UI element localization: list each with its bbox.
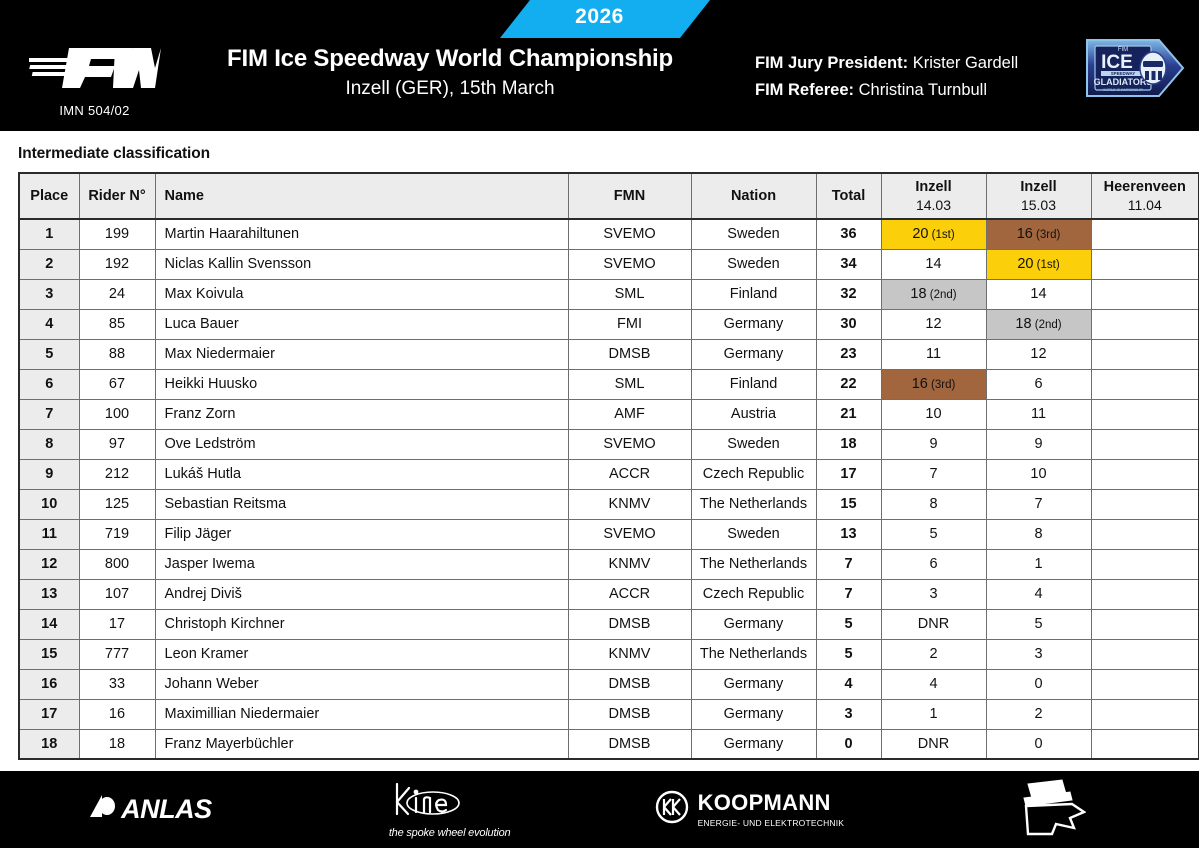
cell-rider-number: 24 xyxy=(79,279,155,309)
cell-rider-name: Max Koivula xyxy=(155,279,568,309)
cell-event-3 xyxy=(1091,669,1199,699)
table-row[interactable]: 324Max KoivulaSMLFinland3218 (2nd)14 xyxy=(19,279,1199,309)
page-header: 2026 IMN 504/02 FIM Ice Speedway World xyxy=(0,0,1199,131)
cell-event-3 xyxy=(1091,399,1199,429)
cell-event-1: 14 xyxy=(881,249,986,279)
cell-event-1: DNR xyxy=(881,609,986,639)
cell-total: 3 xyxy=(816,699,881,729)
koopmann-wordmark: KOOPMANN xyxy=(698,790,831,815)
fim-logo-block: IMN 504/02 xyxy=(22,42,167,118)
cell-total: 7 xyxy=(816,549,881,579)
sponsor-anlas: ANLAS xyxy=(0,793,300,826)
cell-event-1: 8 xyxy=(881,489,986,519)
svg-text:WORLD CHAMPIONSHIP: WORLD CHAMPIONSHIP xyxy=(1103,88,1143,92)
cell-event-2: 9 xyxy=(986,429,1091,459)
svg-text:ICE: ICE xyxy=(1101,52,1133,73)
event-venue-date: Inzell (GER), 15th March xyxy=(185,78,715,100)
cell-fmn: ACCR xyxy=(568,579,691,609)
cell-place: 2 xyxy=(19,249,79,279)
cell-rider-name: Lukáš Hutla xyxy=(155,459,568,489)
table-row[interactable]: 1417Christoph KirchnerDMSBGermany5DNR5 xyxy=(19,609,1199,639)
col-header-nation[interactable]: Nation xyxy=(691,173,816,219)
table-body: 1199Martin HaarahiltunenSVEMOSweden3620 … xyxy=(19,219,1199,759)
cell-rider-number: 212 xyxy=(79,459,155,489)
col-header-event-2[interactable]: Inzell 15.03 xyxy=(986,173,1091,219)
cell-nation: Czech Republic xyxy=(691,459,816,489)
cell-rider-number: 192 xyxy=(79,249,155,279)
cell-event-1: 1 xyxy=(881,699,986,729)
cell-place: 7 xyxy=(19,399,79,429)
cell-fmn: DMSB xyxy=(568,729,691,759)
cell-rider-name: Franz Mayerbüchler xyxy=(155,729,568,759)
cell-rider-number: 199 xyxy=(79,219,155,249)
cell-event-1: 7 xyxy=(881,459,986,489)
cell-total: 21 xyxy=(816,399,881,429)
cell-rider-name: Filip Jäger xyxy=(155,519,568,549)
cell-total: 36 xyxy=(816,219,881,249)
imn-code: IMN 504/02 xyxy=(22,103,167,118)
cell-event-1: 12 xyxy=(881,309,986,339)
col-header-rider[interactable]: Rider N° xyxy=(79,173,155,219)
cell-rider-number: 85 xyxy=(79,309,155,339)
cell-event-2: 0 xyxy=(986,669,1091,699)
jury-president-name: Krister Gardell xyxy=(913,54,1018,72)
cell-event-1: 4 xyxy=(881,669,986,699)
cell-rider-name: Sebastian Reitsma xyxy=(155,489,568,519)
cell-rider-number: 719 xyxy=(79,519,155,549)
cell-event-1: 6 xyxy=(881,549,986,579)
cell-place: 13 xyxy=(19,579,79,609)
fim-logo-icon xyxy=(22,42,167,95)
cell-place: 10 xyxy=(19,489,79,519)
results-table: Place Rider N° Name FMN Nation Total Inz… xyxy=(18,172,1199,760)
table-row[interactable]: 485Luca BauerFMIGermany301218 (2nd) xyxy=(19,309,1199,339)
cell-event-3 xyxy=(1091,729,1199,759)
cell-total: 7 xyxy=(816,579,881,609)
table-row[interactable]: 13107Andrej DivišACCRCzech Republic734 xyxy=(19,579,1199,609)
cell-nation: Germany xyxy=(691,669,816,699)
cell-fmn: SVEMO xyxy=(568,429,691,459)
cell-fmn: SML xyxy=(568,369,691,399)
referee-row: FIM Referee: Christina Turnbull xyxy=(755,77,1018,104)
cell-nation: Sweden xyxy=(691,219,816,249)
referee-name: Christina Turnbull xyxy=(859,81,987,99)
officials-block: FIM Jury President: Krister Gardell FIM … xyxy=(755,50,1018,104)
results-page: 2026 IMN 504/02 FIM Ice Speedway World xyxy=(0,0,1199,848)
cell-fmn: SVEMO xyxy=(568,249,691,279)
cell-rider-number: 100 xyxy=(79,399,155,429)
cell-event-3 xyxy=(1091,309,1199,339)
cell-fmn: SVEMO xyxy=(568,519,691,549)
cell-event-2: 3 xyxy=(986,639,1091,669)
cell-fmn: KNMV xyxy=(568,489,691,519)
col-header-total[interactable]: Total xyxy=(816,173,881,219)
table-head: Place Rider N° Name FMN Nation Total Inz… xyxy=(19,173,1199,219)
cell-event-1: 3 xyxy=(881,579,986,609)
cell-rider-name: Luca Bauer xyxy=(155,309,568,339)
cell-event-1: 20 (1st) xyxy=(881,219,986,249)
cell-place: 3 xyxy=(19,279,79,309)
cell-event-2: 0 xyxy=(986,729,1091,759)
cell-event-2: 6 xyxy=(986,369,1091,399)
cell-event-1: 11 xyxy=(881,339,986,369)
jury-president-row: FIM Jury President: Krister Gardell xyxy=(755,50,1018,77)
cell-rider-number: 125 xyxy=(79,489,155,519)
cell-rider-name: Christoph Kirchner xyxy=(155,609,568,639)
cell-rider-number: 16 xyxy=(79,699,155,729)
table-row[interactable]: 10125Sebastian ReitsmaKNMVThe Netherland… xyxy=(19,489,1199,519)
cell-nation: Germany xyxy=(691,609,816,639)
cell-nation: Germany xyxy=(691,309,816,339)
cell-fmn: SML xyxy=(568,279,691,309)
cell-fmn: DMSB xyxy=(568,609,691,639)
cell-total: 18 xyxy=(816,429,881,459)
cell-place: 15 xyxy=(19,639,79,669)
kineo-tagline: the spoke wheel evolution xyxy=(389,827,511,839)
table-row[interactable]: 9212Lukáš HutlaACCRCzech Republic17710 xyxy=(19,459,1199,489)
cell-rider-name: Johann Weber xyxy=(155,669,568,699)
table-row[interactable]: 12800Jasper IwemaKNMVThe Netherlands761 xyxy=(19,549,1199,579)
cell-nation: Austria xyxy=(691,399,816,429)
anlas-wordmark: ANLAS xyxy=(121,794,212,825)
cell-rider-number: 88 xyxy=(79,339,155,369)
cell-event-2: 5 xyxy=(986,609,1091,639)
cell-event-1: 16 (3rd) xyxy=(881,369,986,399)
sponsor-footer: ANLAS xyxy=(0,771,1199,848)
cell-event-2: 7 xyxy=(986,489,1091,519)
cell-event-2: 4 xyxy=(986,579,1091,609)
table-row[interactable]: 7100Franz ZornAMFAustria211011 xyxy=(19,399,1199,429)
cell-rider-number: 17 xyxy=(79,609,155,639)
cell-rider-name: Niclas Kallin Svensson xyxy=(155,249,568,279)
col-header-name[interactable]: Name xyxy=(155,173,568,219)
cell-rider-number: 18 xyxy=(79,729,155,759)
cell-event-1: 2 xyxy=(881,639,986,669)
col-header-event-3[interactable]: Heerenveen 11.04 xyxy=(1091,173,1199,219)
cell-total: 15 xyxy=(816,489,881,519)
cell-event-3 xyxy=(1091,579,1199,609)
cell-rider-name: Max Niedermaier xyxy=(155,339,568,369)
table-row[interactable]: 588Max NiedermaierDMSBGermany231112 xyxy=(19,339,1199,369)
cell-rider-name: Franz Zorn xyxy=(155,399,568,429)
cell-nation: The Netherlands xyxy=(691,549,816,579)
cell-total: 22 xyxy=(816,369,881,399)
cell-event-3 xyxy=(1091,489,1199,519)
cell-fmn: DMSB xyxy=(568,669,691,699)
cell-event-3 xyxy=(1091,339,1199,369)
svg-text:SPEEDWAY: SPEEDWAY xyxy=(1111,71,1136,76)
cell-rider-number: 67 xyxy=(79,369,155,399)
page-content: Intermediate classification Place Rider … xyxy=(0,145,1199,785)
cell-nation: Sweden xyxy=(691,249,816,279)
cell-total: 13 xyxy=(816,519,881,549)
table-row[interactable]: 667Heikki HuuskoSMLFinland2216 (3rd)6 xyxy=(19,369,1199,399)
cell-rider-name: Leon Kramer xyxy=(155,639,568,669)
cell-fmn: AMF xyxy=(568,399,691,429)
cell-event-3 xyxy=(1091,249,1199,279)
anlas-mark-icon xyxy=(88,793,118,826)
cell-event-2: 8 xyxy=(986,519,1091,549)
cell-place: 1 xyxy=(19,219,79,249)
cell-total: 23 xyxy=(816,339,881,369)
table-row[interactable]: 11719Filip JägerSVEMOSweden1358 xyxy=(19,519,1199,549)
cell-total: 17 xyxy=(816,459,881,489)
kw-logo-icon xyxy=(1012,778,1086,841)
cell-total: 5 xyxy=(816,609,881,639)
cell-nation: Germany xyxy=(691,339,816,369)
koopmann-emblem-icon xyxy=(655,790,689,829)
cell-place: 18 xyxy=(19,729,79,759)
table-row[interactable]: 1818Franz MayerbüchlerDMSBGermany0DNR0 xyxy=(19,729,1199,759)
cell-event-2: 2 xyxy=(986,699,1091,729)
cell-place: 14 xyxy=(19,609,79,639)
cell-nation: Sweden xyxy=(691,429,816,459)
cell-fmn: FMI xyxy=(568,309,691,339)
cell-event-3 xyxy=(1091,459,1199,489)
cell-place: 8 xyxy=(19,429,79,459)
col-header-event-1[interactable]: Inzell 14.03 xyxy=(881,173,986,219)
cell-place: 5 xyxy=(19,339,79,369)
cell-rider-name: Heikki Huusko xyxy=(155,369,568,399)
section-title: Intermediate classification xyxy=(18,145,1181,163)
cell-place: 11 xyxy=(19,519,79,549)
cell-fmn: KNMV xyxy=(568,639,691,669)
cell-rider-name: Ove Ledström xyxy=(155,429,568,459)
cell-nation: The Netherlands xyxy=(691,489,816,519)
cell-rider-number: 107 xyxy=(79,579,155,609)
cell-event-2: 10 xyxy=(986,459,1091,489)
table-row[interactable]: 1716Maximillian NiedermaierDMSBGermany31… xyxy=(19,699,1199,729)
cell-nation: Czech Republic xyxy=(691,579,816,609)
cell-event-3 xyxy=(1091,519,1199,549)
cell-place: 16 xyxy=(19,669,79,699)
cell-event-3 xyxy=(1091,639,1199,669)
cell-event-3 xyxy=(1091,279,1199,309)
cell-place: 6 xyxy=(19,369,79,399)
cell-rider-name: Martin Haarahiltunen xyxy=(155,219,568,249)
cell-total: 5 xyxy=(816,639,881,669)
cell-event-2: 12 xyxy=(986,339,1091,369)
cell-total: 4 xyxy=(816,669,881,699)
cell-event-3 xyxy=(1091,429,1199,459)
cell-place: 4 xyxy=(19,309,79,339)
cell-fmn: SVEMO xyxy=(568,219,691,249)
cell-fmn: KNMV xyxy=(568,549,691,579)
cell-nation: The Netherlands xyxy=(691,639,816,669)
kineo-wordmark-icon xyxy=(389,807,465,824)
table-row[interactable]: 15777Leon KramerKNMVThe Netherlands523 xyxy=(19,639,1199,669)
cell-event-2: 16 (3rd) xyxy=(986,219,1091,249)
championship-year: 2026 xyxy=(0,5,1199,29)
koopmann-tagline: ENERGIE- UND ELEKTROTECHNIK xyxy=(698,818,845,828)
cell-event-3 xyxy=(1091,609,1199,639)
sponsor-kw xyxy=(899,778,1199,841)
cell-fmn: DMSB xyxy=(568,699,691,729)
cell-event-2: 11 xyxy=(986,399,1091,429)
cell-event-2: 1 xyxy=(986,549,1091,579)
cell-event-2: 14 xyxy=(986,279,1091,309)
cell-rider-number: 800 xyxy=(79,549,155,579)
cell-total: 34 xyxy=(816,249,881,279)
cell-nation: Finland xyxy=(691,369,816,399)
cell-event-3 xyxy=(1091,219,1199,249)
event-title: FIM Ice Speedway World Championship xyxy=(185,45,715,73)
cell-fmn: DMSB xyxy=(568,339,691,369)
table-row[interactable]: 1633Johann WeberDMSBGermany440 xyxy=(19,669,1199,699)
cell-fmn: ACCR xyxy=(568,459,691,489)
cell-event-3 xyxy=(1091,369,1199,399)
sponsor-koopmann: KOOPMANN ENERGIE- UND ELEKTROTECHNIK xyxy=(600,790,900,829)
table-header-row: Place Rider N° Name FMN Nation Total Inz… xyxy=(19,173,1199,219)
cell-event-3 xyxy=(1091,549,1199,579)
cell-event-1: 18 (2nd) xyxy=(881,279,986,309)
referee-label: FIM Referee: xyxy=(755,81,854,99)
cell-total: 32 xyxy=(816,279,881,309)
cell-event-3 xyxy=(1091,699,1199,729)
cell-event-2: 20 (1st) xyxy=(986,249,1091,279)
sponsor-kineo: the spoke wheel evolution xyxy=(300,780,600,839)
cell-nation: Finland xyxy=(691,279,816,309)
cell-nation: Sweden xyxy=(691,519,816,549)
ice-speedway-gladiators-logo-icon: FIM ICE SPEEDWAY GLADIATORS WORLD CHAMPI… xyxy=(1083,36,1187,105)
cell-event-1: 9 xyxy=(881,429,986,459)
event-title-block: FIM Ice Speedway World Championship Inze… xyxy=(185,45,715,100)
table-row[interactable]: 897Ove LedströmSVEMOSweden1899 xyxy=(19,429,1199,459)
cell-place: 12 xyxy=(19,549,79,579)
cell-rider-name: Jasper Iwema xyxy=(155,549,568,579)
table-row[interactable]: 1199Martin HaarahiltunenSVEMOSweden3620 … xyxy=(19,219,1199,249)
cell-nation: Germany xyxy=(691,729,816,759)
col-header-fmn[interactable]: FMN xyxy=(568,173,691,219)
cell-total: 30 xyxy=(816,309,881,339)
cell-place: 17 xyxy=(19,699,79,729)
cell-nation: Germany xyxy=(691,699,816,729)
cell-rider-number: 33 xyxy=(79,669,155,699)
cell-event-1: 10 xyxy=(881,399,986,429)
col-header-place[interactable]: Place xyxy=(19,173,79,219)
cell-rider-number: 97 xyxy=(79,429,155,459)
cell-event-2: 18 (2nd) xyxy=(986,309,1091,339)
table-row[interactable]: 2192Niclas Kallin SvenssonSVEMOSweden341… xyxy=(19,249,1199,279)
jury-president-label: FIM Jury President: xyxy=(755,54,908,72)
cell-place: 9 xyxy=(19,459,79,489)
cell-total: 0 xyxy=(816,729,881,759)
cell-rider-number: 777 xyxy=(79,639,155,669)
cell-event-1: 5 xyxy=(881,519,986,549)
cell-event-1: DNR xyxy=(881,729,986,759)
cell-rider-name: Maximillian Niedermaier xyxy=(155,699,568,729)
cell-rider-name: Andrej Diviš xyxy=(155,579,568,609)
